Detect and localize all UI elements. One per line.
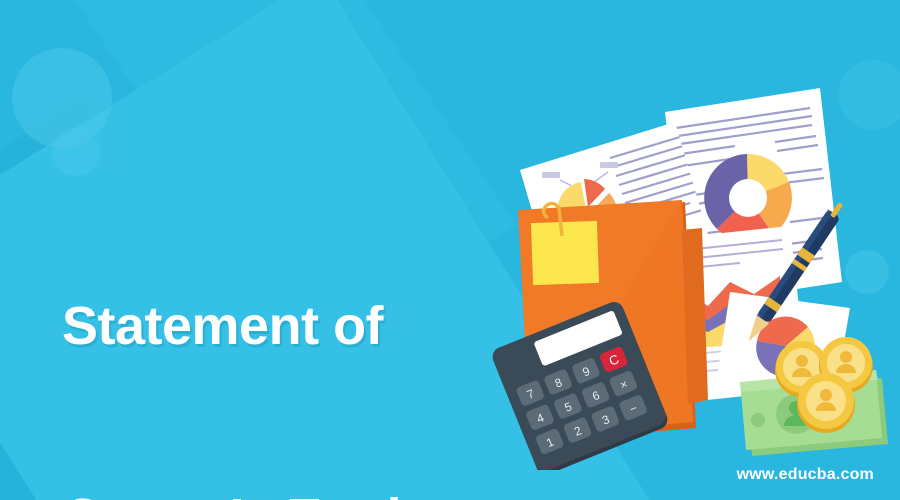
financial-documents-illustration: 789 456 123 ×− C: [490, 70, 900, 470]
page-title-line-1: Statement of: [62, 295, 448, 359]
page-title-line-2: Owner’s Equity: [62, 487, 448, 500]
coin: [797, 373, 855, 433]
page-title: Statement of Owner’s Equity: [62, 168, 448, 500]
banner: Statement of Owner’s Equity www.educba.c…: [0, 0, 900, 500]
